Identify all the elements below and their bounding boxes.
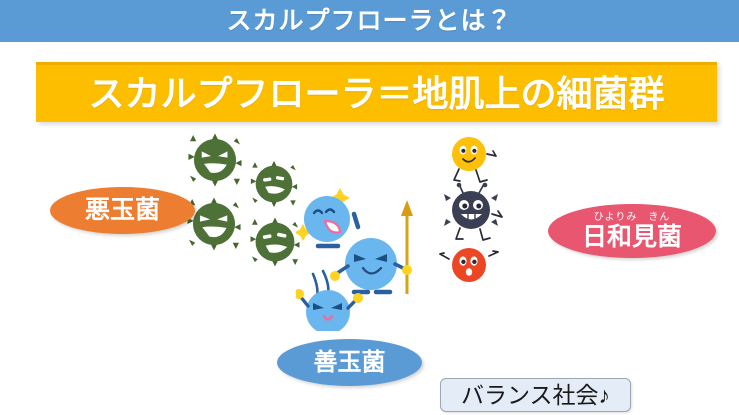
highlight-banner-text: スカルプフローラ＝地肌上の細菌群 xyxy=(88,76,664,112)
label-opportunistic-bacteria[interactable]: ひよりみ きん 日和見菌 xyxy=(548,204,716,258)
red-germ-icon xyxy=(452,248,486,282)
slide-canvas: スカルプフローラとは？ スカルプフローラ＝地肌上の細菌群 xyxy=(0,0,739,415)
golden-spear-icon xyxy=(401,200,413,294)
highlight-banner: スカルプフローラ＝地肌上の細菌群 xyxy=(36,62,717,122)
navy-germ-icon xyxy=(444,183,498,229)
balance-society-text: バランス社会♪ xyxy=(461,384,610,407)
yellow-germ-icon xyxy=(452,137,486,171)
label-bad-bacteria[interactable]: 悪玉菌 xyxy=(50,187,195,234)
happy-blue-germ-group-icon xyxy=(296,186,436,336)
label-good-bacteria[interactable]: 善玉菌 xyxy=(277,339,422,386)
angry-spiky-germ-group-icon xyxy=(180,132,310,272)
label-bad-bacteria-text: 悪玉菌 xyxy=(85,198,160,223)
balance-society-box[interactable]: バランス社会♪ xyxy=(440,378,631,412)
label-good-bacteria-text: 善玉菌 xyxy=(314,351,386,375)
neutral-germ-group-icon xyxy=(434,132,549,287)
label-opportunistic-text: 日和見菌 xyxy=(582,225,682,250)
page-title: スカルプフローラとは？ xyxy=(226,9,512,34)
header-banner: スカルプフローラとは？ xyxy=(0,0,739,42)
label-opportunistic-furigana: ひよりみ きん xyxy=(594,213,671,223)
